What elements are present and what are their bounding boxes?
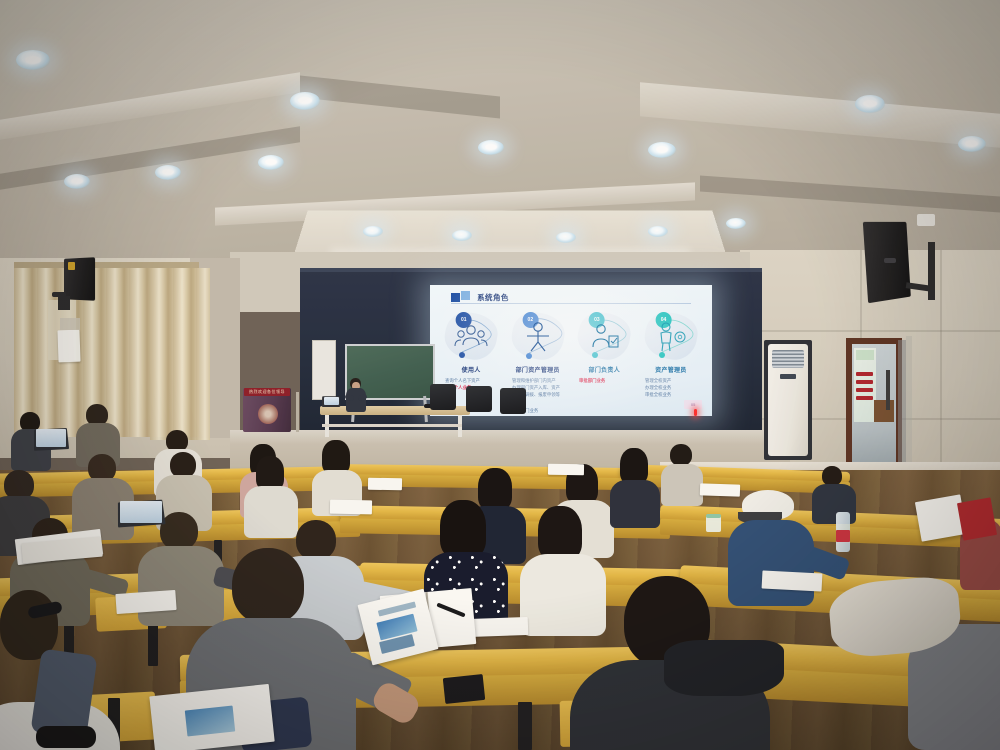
paper-on-desk <box>368 478 402 491</box>
red-booklet <box>957 497 997 540</box>
role-name: 资产管理员 <box>655 365 687 374</box>
paper-on-desk <box>762 570 823 591</box>
role-illustration: 04 <box>641 310 701 362</box>
role-name: 部门资产管理员 <box>516 365 560 374</box>
role-pin-dot <box>659 352 665 358</box>
corridor-bench <box>874 400 894 422</box>
ceiling-light-icon <box>556 232 576 243</box>
role-illustration: 01 <box>441 310 501 362</box>
laptop-screen <box>120 501 162 523</box>
stage-chair <box>466 386 492 412</box>
role-line: 办理全校业务 <box>645 384 694 391</box>
paper-on-desk <box>330 500 372 515</box>
wall-junction-box <box>917 214 935 226</box>
laser-pointer-dot-icon <box>694 409 697 416</box>
role-name: 部门负责人 <box>589 365 621 374</box>
corridor-pole <box>886 370 890 410</box>
role-line-highlight: 审批部门业务 <box>579 377 628 384</box>
slide-role-card: 03 部门负责人 审批部门业务 <box>574 310 634 415</box>
ceiling-light-icon <box>648 226 668 237</box>
role-illustration: 03 <box>574 310 634 362</box>
slide-role-card: 04 资产管理员 管理全校资产 办理全校业务 审批全校业务 <box>641 310 701 415</box>
role-description: 管理全校资产 办理全校业务 审批全校业务 <box>645 377 696 398</box>
role-line: 管理和维护部门内资产 <box>512 377 561 384</box>
laptop-screen <box>324 397 339 405</box>
window-curtain-left-2 <box>150 268 210 440</box>
ceiling-light-icon <box>726 218 746 229</box>
presenter <box>344 378 368 412</box>
ceiling-light-icon <box>363 226 383 237</box>
role-line: 审批全校业务 <box>645 391 694 398</box>
cup-lid <box>706 514 721 518</box>
shoe <box>36 726 96 748</box>
lecture-hall-photo: 系统角色 <box>0 0 1000 750</box>
mic-stand <box>296 392 299 432</box>
person-standing-icon <box>523 320 553 352</box>
podium-banner: 热烈欢迎各位领导 <box>244 388 290 396</box>
paper-stack <box>115 590 176 614</box>
role-line: 管理全校资产 <box>645 377 694 384</box>
bottle-label <box>836 530 850 542</box>
presenter-arm <box>357 394 367 402</box>
role-illustration: 02 <box>508 310 568 362</box>
stage-chair <box>500 388 526 414</box>
ac-display-panel <box>780 374 796 379</box>
bag-on-desk <box>664 640 784 696</box>
slide-title-block: 系统角色 <box>451 292 509 303</box>
paper-on-desk <box>700 483 740 496</box>
head <box>232 548 304 624</box>
podium-banner-text: 热烈欢迎各位领导 <box>249 389 285 395</box>
booklet-image <box>185 706 235 737</box>
smartphone <box>443 674 485 704</box>
whiteboard-panel <box>312 340 336 400</box>
slide-logo-square-dark <box>451 293 460 302</box>
podium-emblem <box>258 404 278 424</box>
slide-logo-square-light <box>461 291 470 300</box>
role-name: 使用人 <box>462 365 481 374</box>
role-line: 查询个人名下资产 <box>445 377 494 384</box>
ceiling-light-icon <box>452 230 472 241</box>
person-with-gear-icon <box>654 320 688 352</box>
person-with-document-icon <box>588 321 620 351</box>
laptop-screen <box>36 429 66 447</box>
role-description: 审批部门业务 <box>579 377 630 384</box>
desk-leg <box>518 702 532 750</box>
slide-title: 系统角色 <box>477 292 509 303</box>
role-pin-dot <box>459 352 465 358</box>
role-pin-dot <box>526 353 532 359</box>
slide-page-number: 05 <box>684 400 702 409</box>
paper-on-desk <box>468 617 529 637</box>
paper-cup <box>706 516 721 532</box>
paper-on-desk <box>548 464 584 476</box>
people-group-icon <box>454 321 488 351</box>
stage-chair <box>430 384 456 410</box>
slide-title-underline <box>451 303 691 304</box>
ac-vent <box>772 350 804 368</box>
wall-notice-paper <box>57 330 80 363</box>
